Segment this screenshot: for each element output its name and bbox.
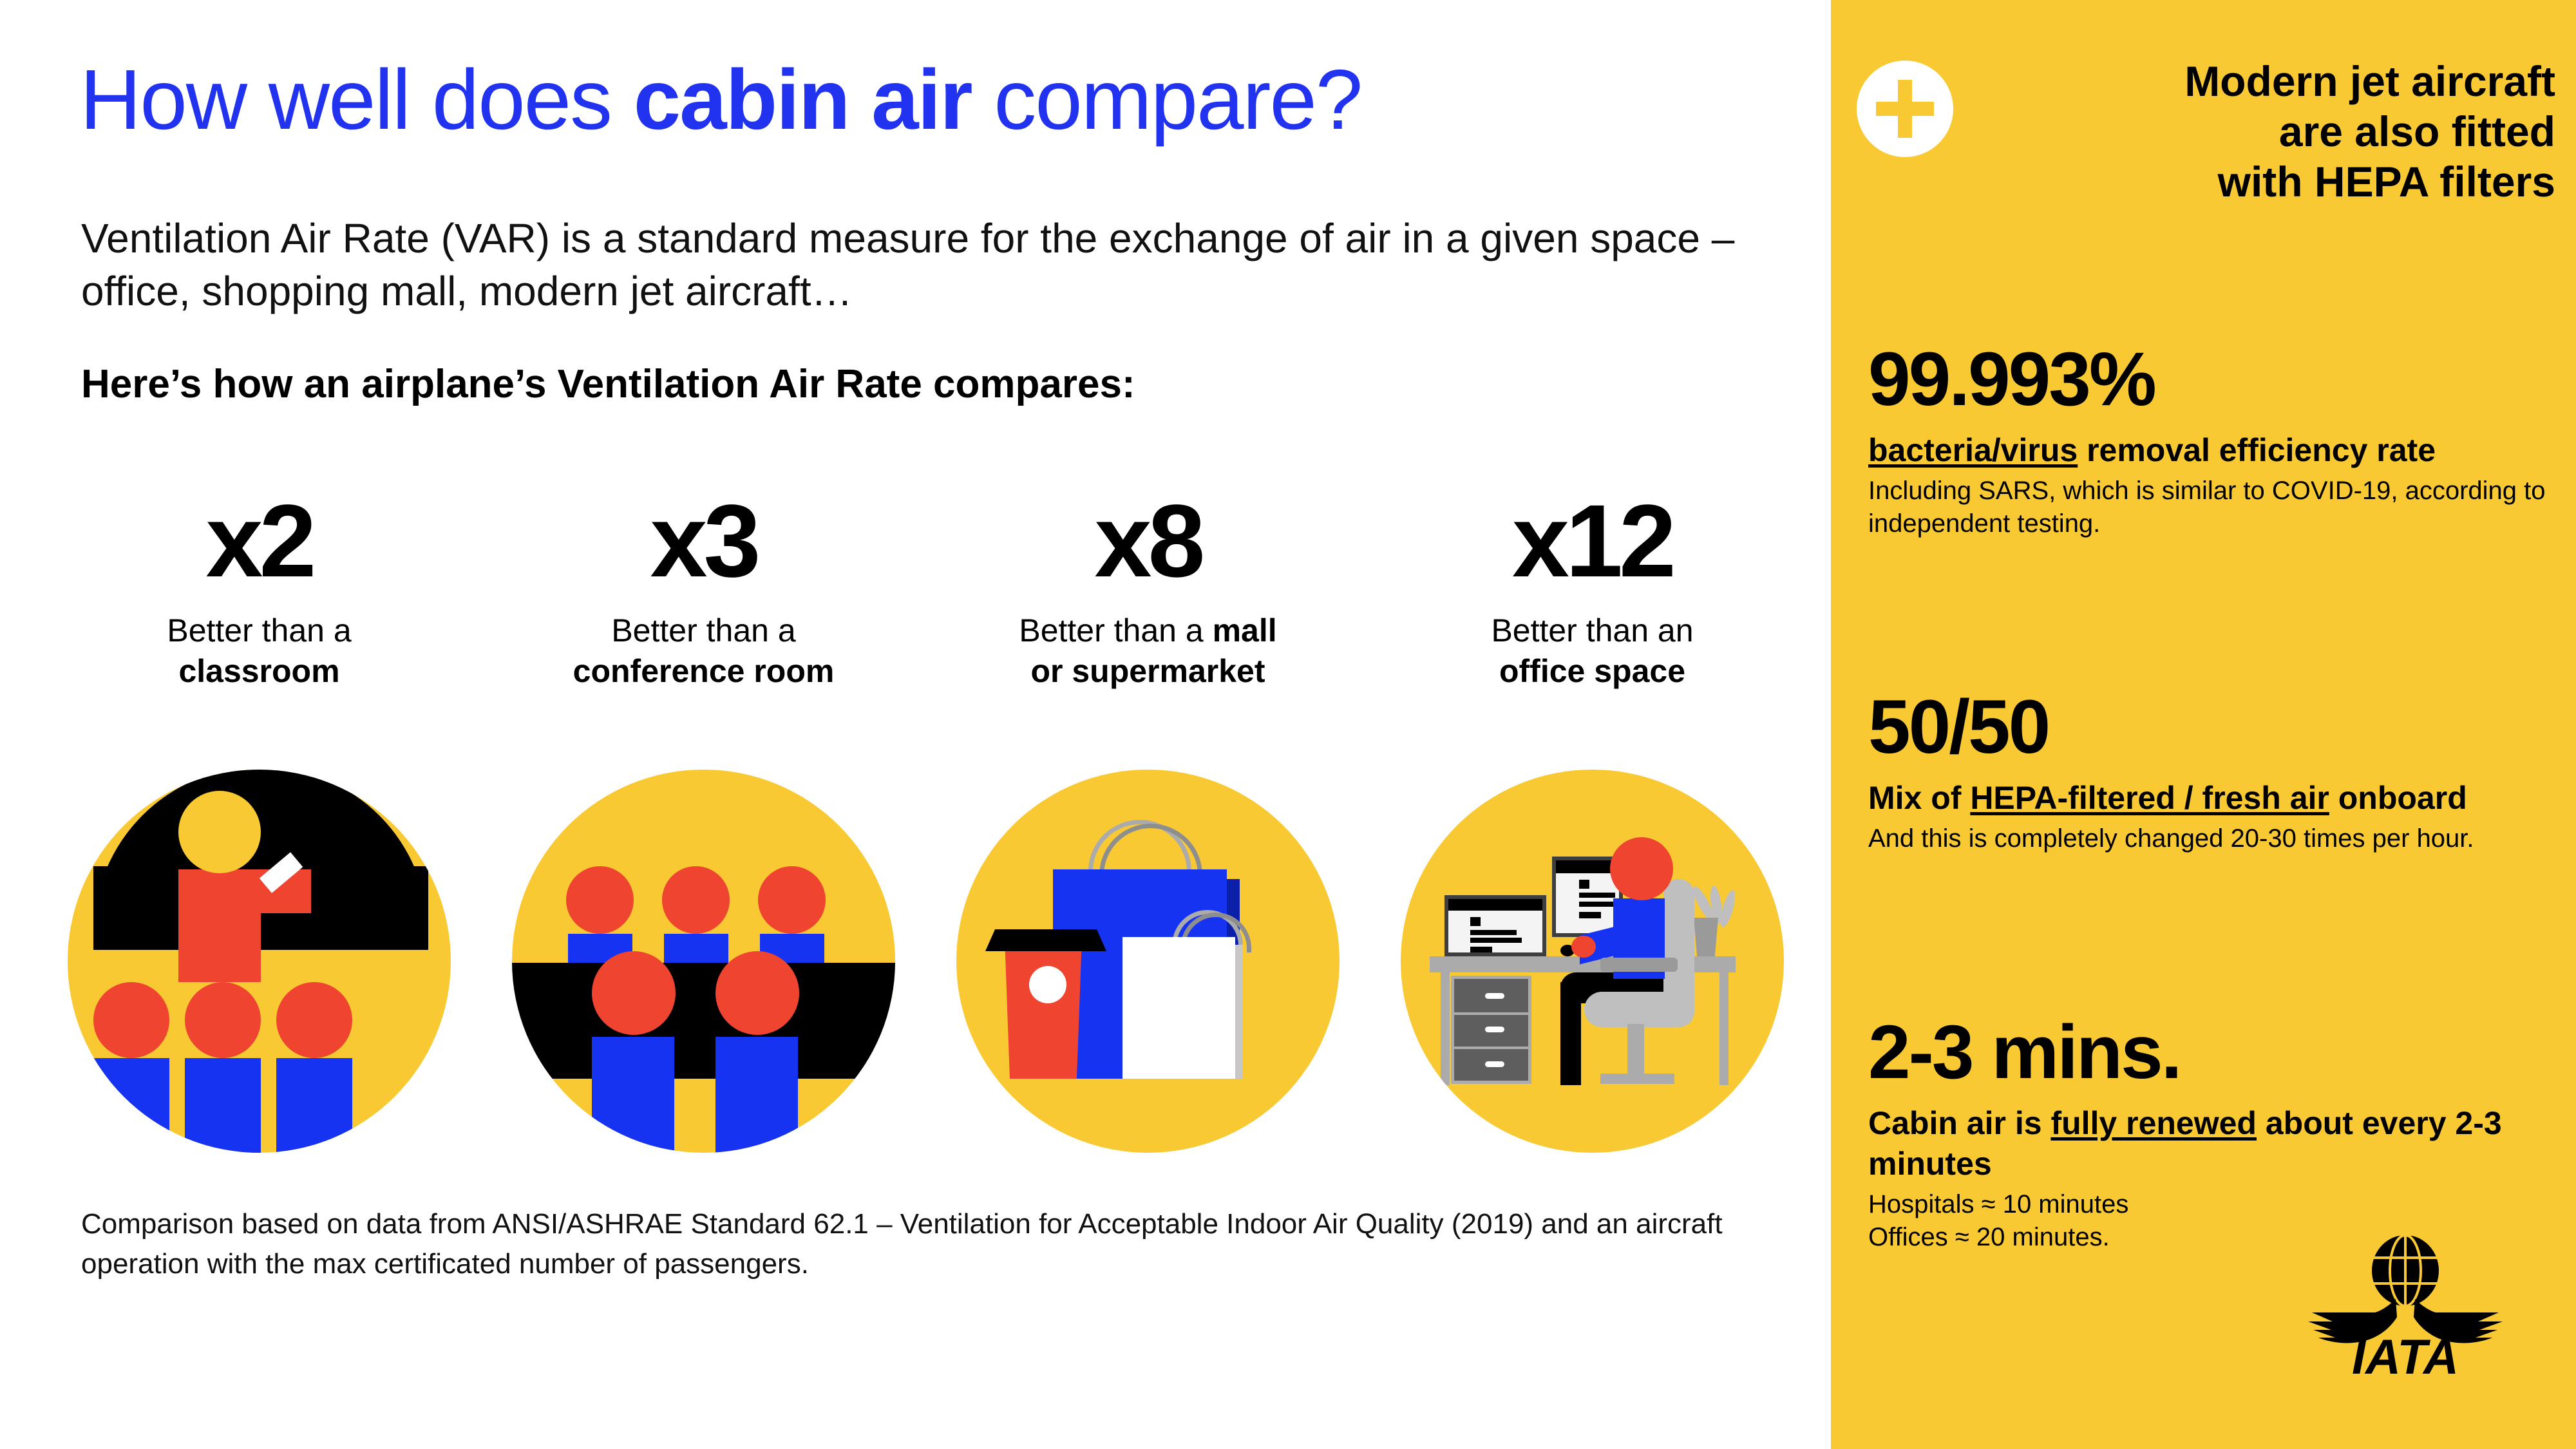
- fact-number: 2-3 mins.: [1868, 1014, 2551, 1090]
- fact-air-renewal-time: 2-3 mins. Cabin air is fully renewed abo…: [1868, 1014, 2551, 1254]
- stat-caption-line1-bold: mall: [1213, 612, 1277, 649]
- desk-leg: [1719, 972, 1728, 1085]
- hepa-banner-text: Modern jet aircraft are also fitted with…: [1953, 57, 2555, 207]
- office-chair-armrest: [1600, 958, 1678, 972]
- stat-multiplier: x2: [206, 489, 313, 592]
- student-head: [185, 982, 261, 1058]
- office-chair-pole: [1627, 1024, 1644, 1075]
- fact-headline: Cabin air is fully renewed about every 2…: [1868, 1103, 2551, 1184]
- hepa-line-3: with HEPA filters: [2218, 158, 2555, 205]
- stat-caption-line2: or supermarket: [1030, 653, 1265, 689]
- coffee-cup-lid: [985, 929, 1106, 951]
- desk-leg: [1441, 972, 1450, 1085]
- illustration-row: [68, 770, 1784, 1153]
- stat-caption: Better than an office space: [1491, 611, 1693, 692]
- lead-in-text: Here’s how an airplane’s Ventilation Air…: [81, 361, 1135, 408]
- fact-headline-underlined: HEPA-filtered / fresh air: [1970, 780, 2329, 816]
- stat-caption-line2: conference room: [573, 653, 835, 689]
- fact-number: 50/50: [1868, 689, 2551, 765]
- coffee-cup-logo: [1029, 966, 1066, 1003]
- conference-table: [512, 963, 895, 1079]
- stat-caption-line2: office space: [1499, 653, 1685, 689]
- stat-caption: Better than a mall or supermarket: [1019, 611, 1276, 692]
- worker-head: [1610, 837, 1673, 900]
- stat-multiplier: x3: [650, 489, 757, 592]
- stat-multiplier: x12: [1512, 489, 1672, 592]
- bag-side: [1235, 945, 1243, 1079]
- laptop: [1444, 895, 1546, 956]
- fact-removal-efficiency: 99.993% bacteria/virus removal efficienc…: [1868, 341, 2551, 540]
- fact-headline-underlined: bacteria/virus: [1868, 432, 2078, 468]
- fact-headline: Mix of HEPA-filtered / fresh air onboard: [1868, 778, 2551, 819]
- fact-air-mix: 50/50 Mix of HEPA-filtered / fresh air o…: [1868, 689, 2551, 855]
- page-title: How well does cabin air compare?: [80, 55, 1361, 145]
- student-body: [93, 1058, 169, 1153]
- coffee-cup: [1001, 942, 1085, 1079]
- stat-caption: Better than a classroom: [167, 611, 351, 692]
- attendee-head: [566, 866, 634, 934]
- stat-classroom: x2 Better than a classroom: [68, 489, 451, 734]
- classroom-illustration: [68, 770, 451, 1153]
- fact-number: 99.993%: [1868, 341, 2551, 417]
- plant-pot: [1694, 918, 1718, 958]
- hepa-banner: Modern jet aircraft are also fitted with…: [1857, 57, 2555, 207]
- stat-caption-line1: Better than a: [167, 612, 351, 649]
- stat-caption-line1: Better than an: [1491, 612, 1693, 649]
- attendee-body: [715, 1037, 798, 1153]
- attendee-head: [715, 951, 799, 1035]
- stat-caption-line1: Better than a: [1019, 612, 1203, 649]
- fact-headline-prefix: Cabin air is: [1868, 1105, 2050, 1141]
- stat-caption-line1: Better than a: [611, 612, 795, 649]
- fact-headline-rest: removal efficiency rate: [2078, 432, 2436, 468]
- shopping-bag-white: [1122, 937, 1235, 1079]
- student-body: [276, 1058, 352, 1153]
- stat-conference-room: x3 Better than a conference room: [512, 489, 895, 734]
- hepa-line-1: Modern jet aircraft: [2184, 57, 2555, 105]
- stat-multiplier: x8: [1095, 489, 1202, 592]
- intro-paragraph: Ventilation Air Rate (VAR) is a standard…: [81, 213, 1756, 318]
- attendee-body: [592, 1037, 674, 1153]
- laptop-screen: [1448, 899, 1542, 952]
- fact-subtext: And this is completely changed 20-30 tim…: [1868, 822, 2551, 855]
- attendee-head: [592, 951, 676, 1035]
- conference-room-illustration: [512, 770, 895, 1153]
- office-chair-base: [1600, 1074, 1674, 1084]
- stat-caption: Better than a conference room: [573, 611, 835, 692]
- student-head: [276, 982, 352, 1058]
- worker-hand: [1571, 936, 1596, 958]
- fact-subtext: Including SARS, which is similar to COVI…: [1868, 475, 2551, 540]
- office-chair-seat: [1584, 992, 1690, 1027]
- office-illustration: [1401, 770, 1784, 1153]
- page-title-part-1: How well does: [80, 52, 634, 147]
- student-body: [185, 1058, 261, 1153]
- iata-logo: IATA: [2299, 1227, 2512, 1378]
- page-title-part-2: compare?: [972, 52, 1362, 147]
- drawer-unit: [1451, 976, 1531, 1084]
- comparison-stats-row: x2 Better than a classroom x3 Better tha…: [68, 489, 1784, 734]
- stat-mall: x8 Better than a mall or supermarket: [956, 489, 1340, 734]
- fact-headline-underlined: fully renewed: [2050, 1105, 2257, 1141]
- mall-illustration: [956, 770, 1340, 1153]
- fact-headline-prefix: Mix of: [1868, 780, 1970, 816]
- fact-headline-rest: onboard: [2329, 780, 2467, 816]
- stat-office: x12 Better than an office space: [1401, 489, 1784, 734]
- fact-headline: bacteria/virus removal efficiency rate: [1868, 430, 2551, 471]
- plus-icon: [1857, 61, 1953, 157]
- page-title-emphasis: cabin air: [634, 52, 972, 147]
- iata-wordmark: IATA: [2352, 1330, 2459, 1378]
- student-head: [93, 982, 169, 1058]
- left-content-panel: How well does cabin air compare? Ventila…: [0, 0, 1831, 1449]
- source-footnote: Comparison based on data from ANSI/ASHRA…: [81, 1204, 1768, 1285]
- teacher-head: [178, 791, 261, 873]
- attendee-head: [662, 866, 730, 934]
- hepa-line-2: are also fitted: [2279, 108, 2555, 155]
- stat-caption-line2: classroom: [178, 653, 339, 689]
- attendee-head: [758, 866, 826, 934]
